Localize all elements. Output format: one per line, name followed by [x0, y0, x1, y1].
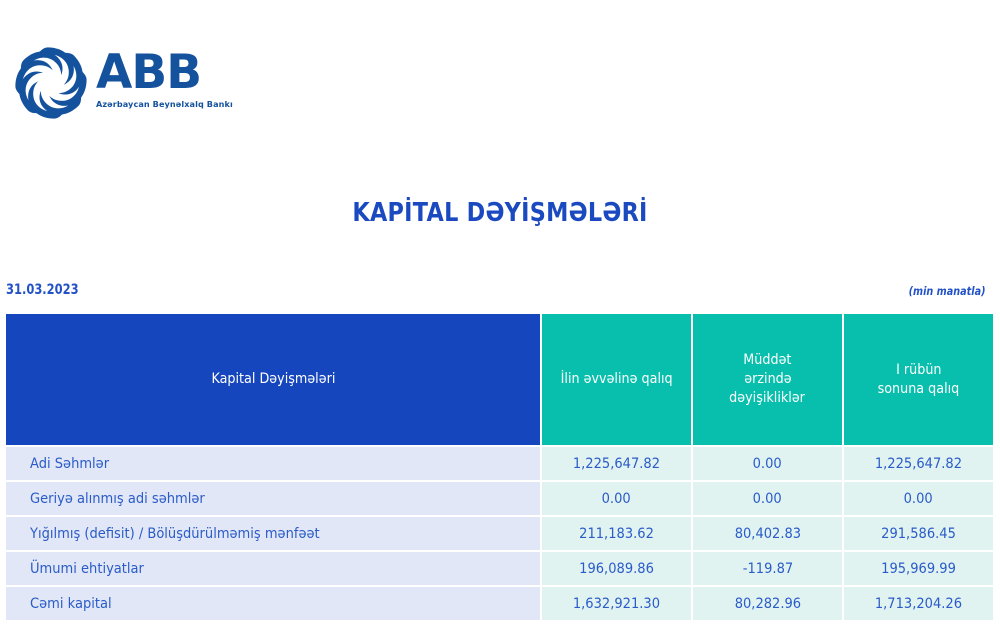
- cell-closing-balance-text: 0.00: [904, 491, 933, 507]
- column-header-label-text: Kapital Dəyişmələri: [211, 370, 335, 389]
- cell-period-change: 80,402.83: [693, 517, 842, 550]
- row-label: Adi Səhmlər: [6, 447, 540, 480]
- column-header-opening-balance-text: İlin əvvəlinə qalıq: [560, 370, 672, 389]
- table-row: Geriyə alınmış adi səhmlər 0.00 0.00 0.0…: [6, 482, 993, 515]
- cell-opening-balance: 0.00: [542, 482, 691, 515]
- cell-opening-balance-text: 196,089.86: [579, 561, 654, 577]
- cell-closing-balance: 1,713,204.26: [844, 587, 993, 620]
- report-meta: 31.03.2023 (min manatla): [6, 282, 986, 302]
- cell-opening-balance: 1,632,921.30: [542, 587, 691, 620]
- row-label: Cəmi kapital: [6, 587, 540, 620]
- cell-period-change-text: 80,282.96: [734, 596, 800, 612]
- cell-opening-balance: 211,183.62: [542, 517, 691, 550]
- column-header-period-changes: Müddət ərzində dəyişikliklər: [693, 314, 842, 445]
- column-header-opening-balance: İlin əvvəlinə qalıq: [542, 314, 691, 445]
- cell-period-change-text: 80,402.83: [734, 526, 800, 542]
- cell-opening-balance-text: 211,183.62: [579, 526, 654, 542]
- report-date: 31.03.2023: [6, 282, 79, 298]
- cell-closing-balance-text: 195,969.99: [881, 561, 956, 577]
- brand-name: ABB: [96, 48, 266, 98]
- column-header-period-changes-line3: dəyişikliklər: [730, 389, 806, 408]
- column-header-period-changes-line1: Müddət: [743, 351, 791, 370]
- cell-period-change: 0.00: [693, 447, 842, 480]
- table-header: Kapital Dəyişmələri İlin əvvəlinə qalıq …: [6, 314, 993, 445]
- cell-closing-balance: 195,969.99: [844, 552, 993, 585]
- row-label-text: Adi Səhmlər: [30, 456, 109, 472]
- capital-changes-table: Kapital Dəyişmələri İlin əvvəlinə qalıq …: [4, 312, 995, 622]
- cell-opening-balance: 1,225,647.82: [542, 447, 691, 480]
- brand-logo: ABB Azərbaycan Beynəlxalq Bankı: [8, 44, 268, 128]
- row-label: Geriyə alınmış adi səhmlər: [6, 482, 540, 515]
- row-label: Ümumi ehtiyatlar: [6, 552, 540, 585]
- table-header-row: Kapital Dəyişmələri İlin əvvəlinə qalıq …: [6, 314, 993, 445]
- table-row: Adi Səhmlər 1,225,647.82 0.00 1,225,647.…: [6, 447, 993, 480]
- table-body: Adi Səhmlər 1,225,647.82 0.00 1,225,647.…: [6, 447, 993, 620]
- cell-closing-balance-text: 291,586.45: [881, 526, 956, 542]
- row-label-text: Ümumi ehtiyatlar: [30, 561, 144, 577]
- column-header-closing-balance-line2: sonuna qalıq: [878, 380, 960, 399]
- table-row: Cəmi kapital 1,632,921.30 80,282.96 1,71…: [6, 587, 993, 620]
- cell-closing-balance: 1,225,647.82: [844, 447, 993, 480]
- cell-period-change: 0.00: [693, 482, 842, 515]
- cell-closing-balance-text: 1,713,204.26: [875, 596, 962, 612]
- column-header-period-changes-line2: ərzində: [744, 370, 791, 389]
- row-label: Yığılmış (defisit) / Bölüşdürülməmiş mən…: [6, 517, 540, 550]
- cell-closing-balance: 0.00: [844, 482, 993, 515]
- row-label-text: Geriyə alınmış adi səhmlər: [30, 491, 205, 507]
- brand-text: ABB Azərbaycan Beynəlxalq Bankı: [96, 48, 266, 109]
- column-header-label: Kapital Dəyişmələri: [6, 314, 540, 445]
- currency-unit-note: (min manatla): [909, 284, 986, 298]
- cell-period-change: -119.87: [693, 552, 842, 585]
- column-header-closing-balance: I rübün sonuna qalıq: [844, 314, 993, 445]
- row-label-text: Cəmi kapital: [30, 596, 112, 612]
- column-header-closing-balance-line1: I rübün: [896, 361, 941, 380]
- cell-period-change-text: 0.00: [753, 456, 782, 472]
- cell-period-change-text: -119.87: [742, 561, 792, 577]
- cell-opening-balance: 196,089.86: [542, 552, 691, 585]
- brand-tagline: Azərbaycan Beynəlxalq Bankı: [96, 99, 266, 109]
- row-label-text: Yığılmış (defisit) / Bölüşdürülməmiş mən…: [30, 526, 320, 542]
- cell-period-change-text: 0.00: [753, 491, 782, 507]
- cell-opening-balance-text: 1,225,647.82: [573, 456, 660, 472]
- page-title: KAPİTAL DƏYİŞMƏLƏRİ: [70, 198, 930, 228]
- cell-opening-balance-text: 1,632,921.30: [573, 596, 660, 612]
- abb-pinwheel-logo-icon: [8, 44, 94, 122]
- cell-period-change: 80,282.96: [693, 587, 842, 620]
- cell-closing-balance-text: 1,225,647.82: [875, 456, 962, 472]
- table-row: Yığılmış (defisit) / Bölüşdürülməmiş mən…: [6, 517, 993, 550]
- cell-closing-balance: 291,586.45: [844, 517, 993, 550]
- table-row: Ümumi ehtiyatlar 196,089.86 -119.87 195,…: [6, 552, 993, 585]
- cell-opening-balance-text: 0.00: [602, 491, 631, 507]
